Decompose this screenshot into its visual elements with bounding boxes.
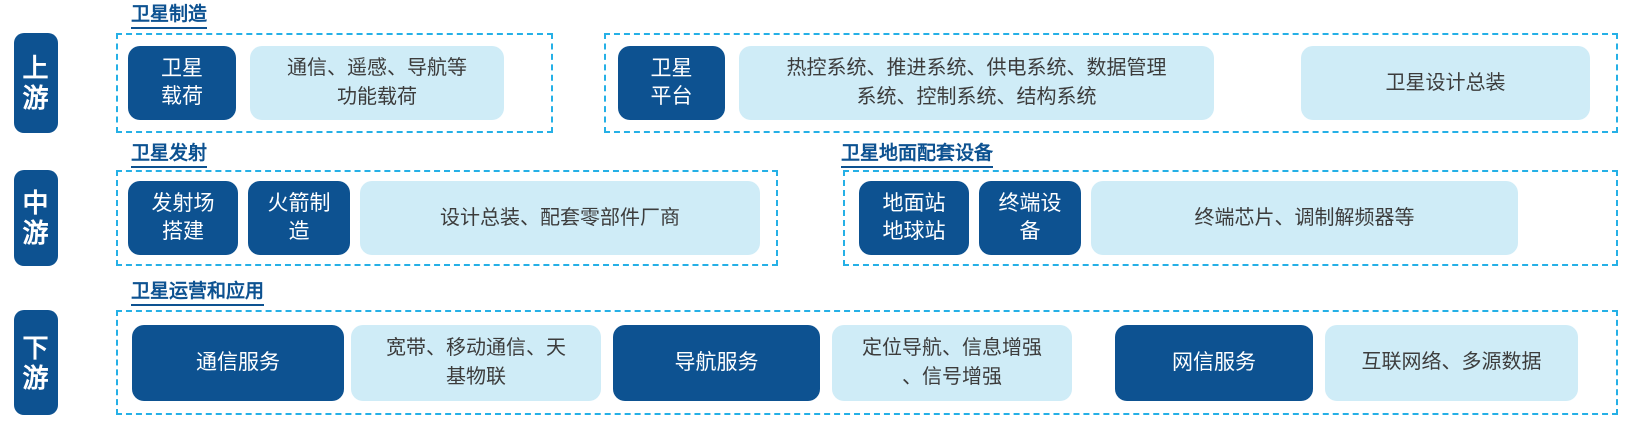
- group-satellite-platform: 卫星 平台 热控系统、推进系统、供电系统、数据管理 系统、控制系统、结构系统 卫…: [604, 33, 1618, 133]
- card-broadband-mobile-iot[interactable]: 宽带、移动通信、天 基物联: [351, 325, 601, 401]
- card-terminal-chips-modems[interactable]: 终端芯片、调制解频器等: [1091, 181, 1518, 255]
- card-satellite-platform[interactable]: 卫星 平台: [618, 46, 725, 120]
- card-satellite-payload[interactable]: 卫星 载荷: [128, 46, 236, 120]
- card-platform-subsystems[interactable]: 热控系统、推进系统、供电系统、数据管理 系统、控制系统、结构系统: [739, 46, 1214, 120]
- stage-pill-upstream-line1: 上: [22, 53, 49, 83]
- card-payload-functions[interactable]: 通信、遥感、导航等 功能载荷: [250, 46, 504, 120]
- section-title-ground-equipment: 卫星地面配套设备: [841, 143, 993, 168]
- card-satellite-design-assembly[interactable]: 卫星设计总装: [1301, 46, 1590, 120]
- section-title-satellite-manufacturing: 卫星制造: [131, 4, 207, 29]
- card-assembly-parts-suppliers[interactable]: 设计总装、配套零部件厂商: [360, 181, 760, 255]
- group-satellite-operations: 通信服务 宽带、移动通信、天 基物联 导航服务 定位导航、信息增强 、信号增强 …: [116, 310, 1618, 415]
- stage-pill-midstream-line2: 游: [22, 218, 49, 248]
- card-positioning-augmentation[interactable]: 定位导航、信息增强 、信号增强: [832, 325, 1072, 401]
- stage-pill-midstream-line1: 中: [22, 188, 49, 218]
- section-title-satellite-operations: 卫星运营和应用: [131, 281, 264, 306]
- card-navigation-service[interactable]: 导航服务: [613, 325, 820, 401]
- group-satellite-manufacturing: 卫星 载荷 通信、遥感、导航等 功能载荷: [116, 33, 553, 133]
- card-cyberspace-service[interactable]: 网信服务: [1115, 325, 1313, 401]
- section-title-satellite-launch: 卫星发射: [131, 143, 207, 168]
- card-launch-site-construction[interactable]: 发射场 搭建: [128, 181, 238, 255]
- stage-pill-downstream: 下 游: [14, 310, 58, 415]
- stage-pill-upstream: 上 游: [14, 33, 58, 133]
- group-satellite-launch: 发射场 搭建 火箭制 造 设计总装、配套零部件厂商: [116, 170, 778, 266]
- card-internet-multisource-data[interactable]: 互联网络、多源数据: [1325, 325, 1578, 401]
- stage-pill-downstream-line1: 下: [22, 333, 49, 363]
- card-terminal-equipment[interactable]: 终端设 备: [979, 181, 1081, 255]
- card-communication-service[interactable]: 通信服务: [132, 325, 344, 401]
- stage-pill-midstream: 中 游: [14, 170, 58, 266]
- group-ground-equipment: 地面站 地球站 终端设 备 终端芯片、调制解频器等: [843, 170, 1618, 266]
- supply-chain-diagram: 上 游 卫星制造 卫星 载荷 通信、遥感、导航等 功能载荷 卫星 平台 热控系统…: [0, 0, 1634, 440]
- card-ground-station[interactable]: 地面站 地球站: [859, 181, 969, 255]
- stage-pill-downstream-line2: 游: [22, 363, 49, 393]
- stage-pill-upstream-line2: 游: [22, 83, 49, 113]
- card-rocket-manufacturing[interactable]: 火箭制 造: [248, 181, 350, 255]
